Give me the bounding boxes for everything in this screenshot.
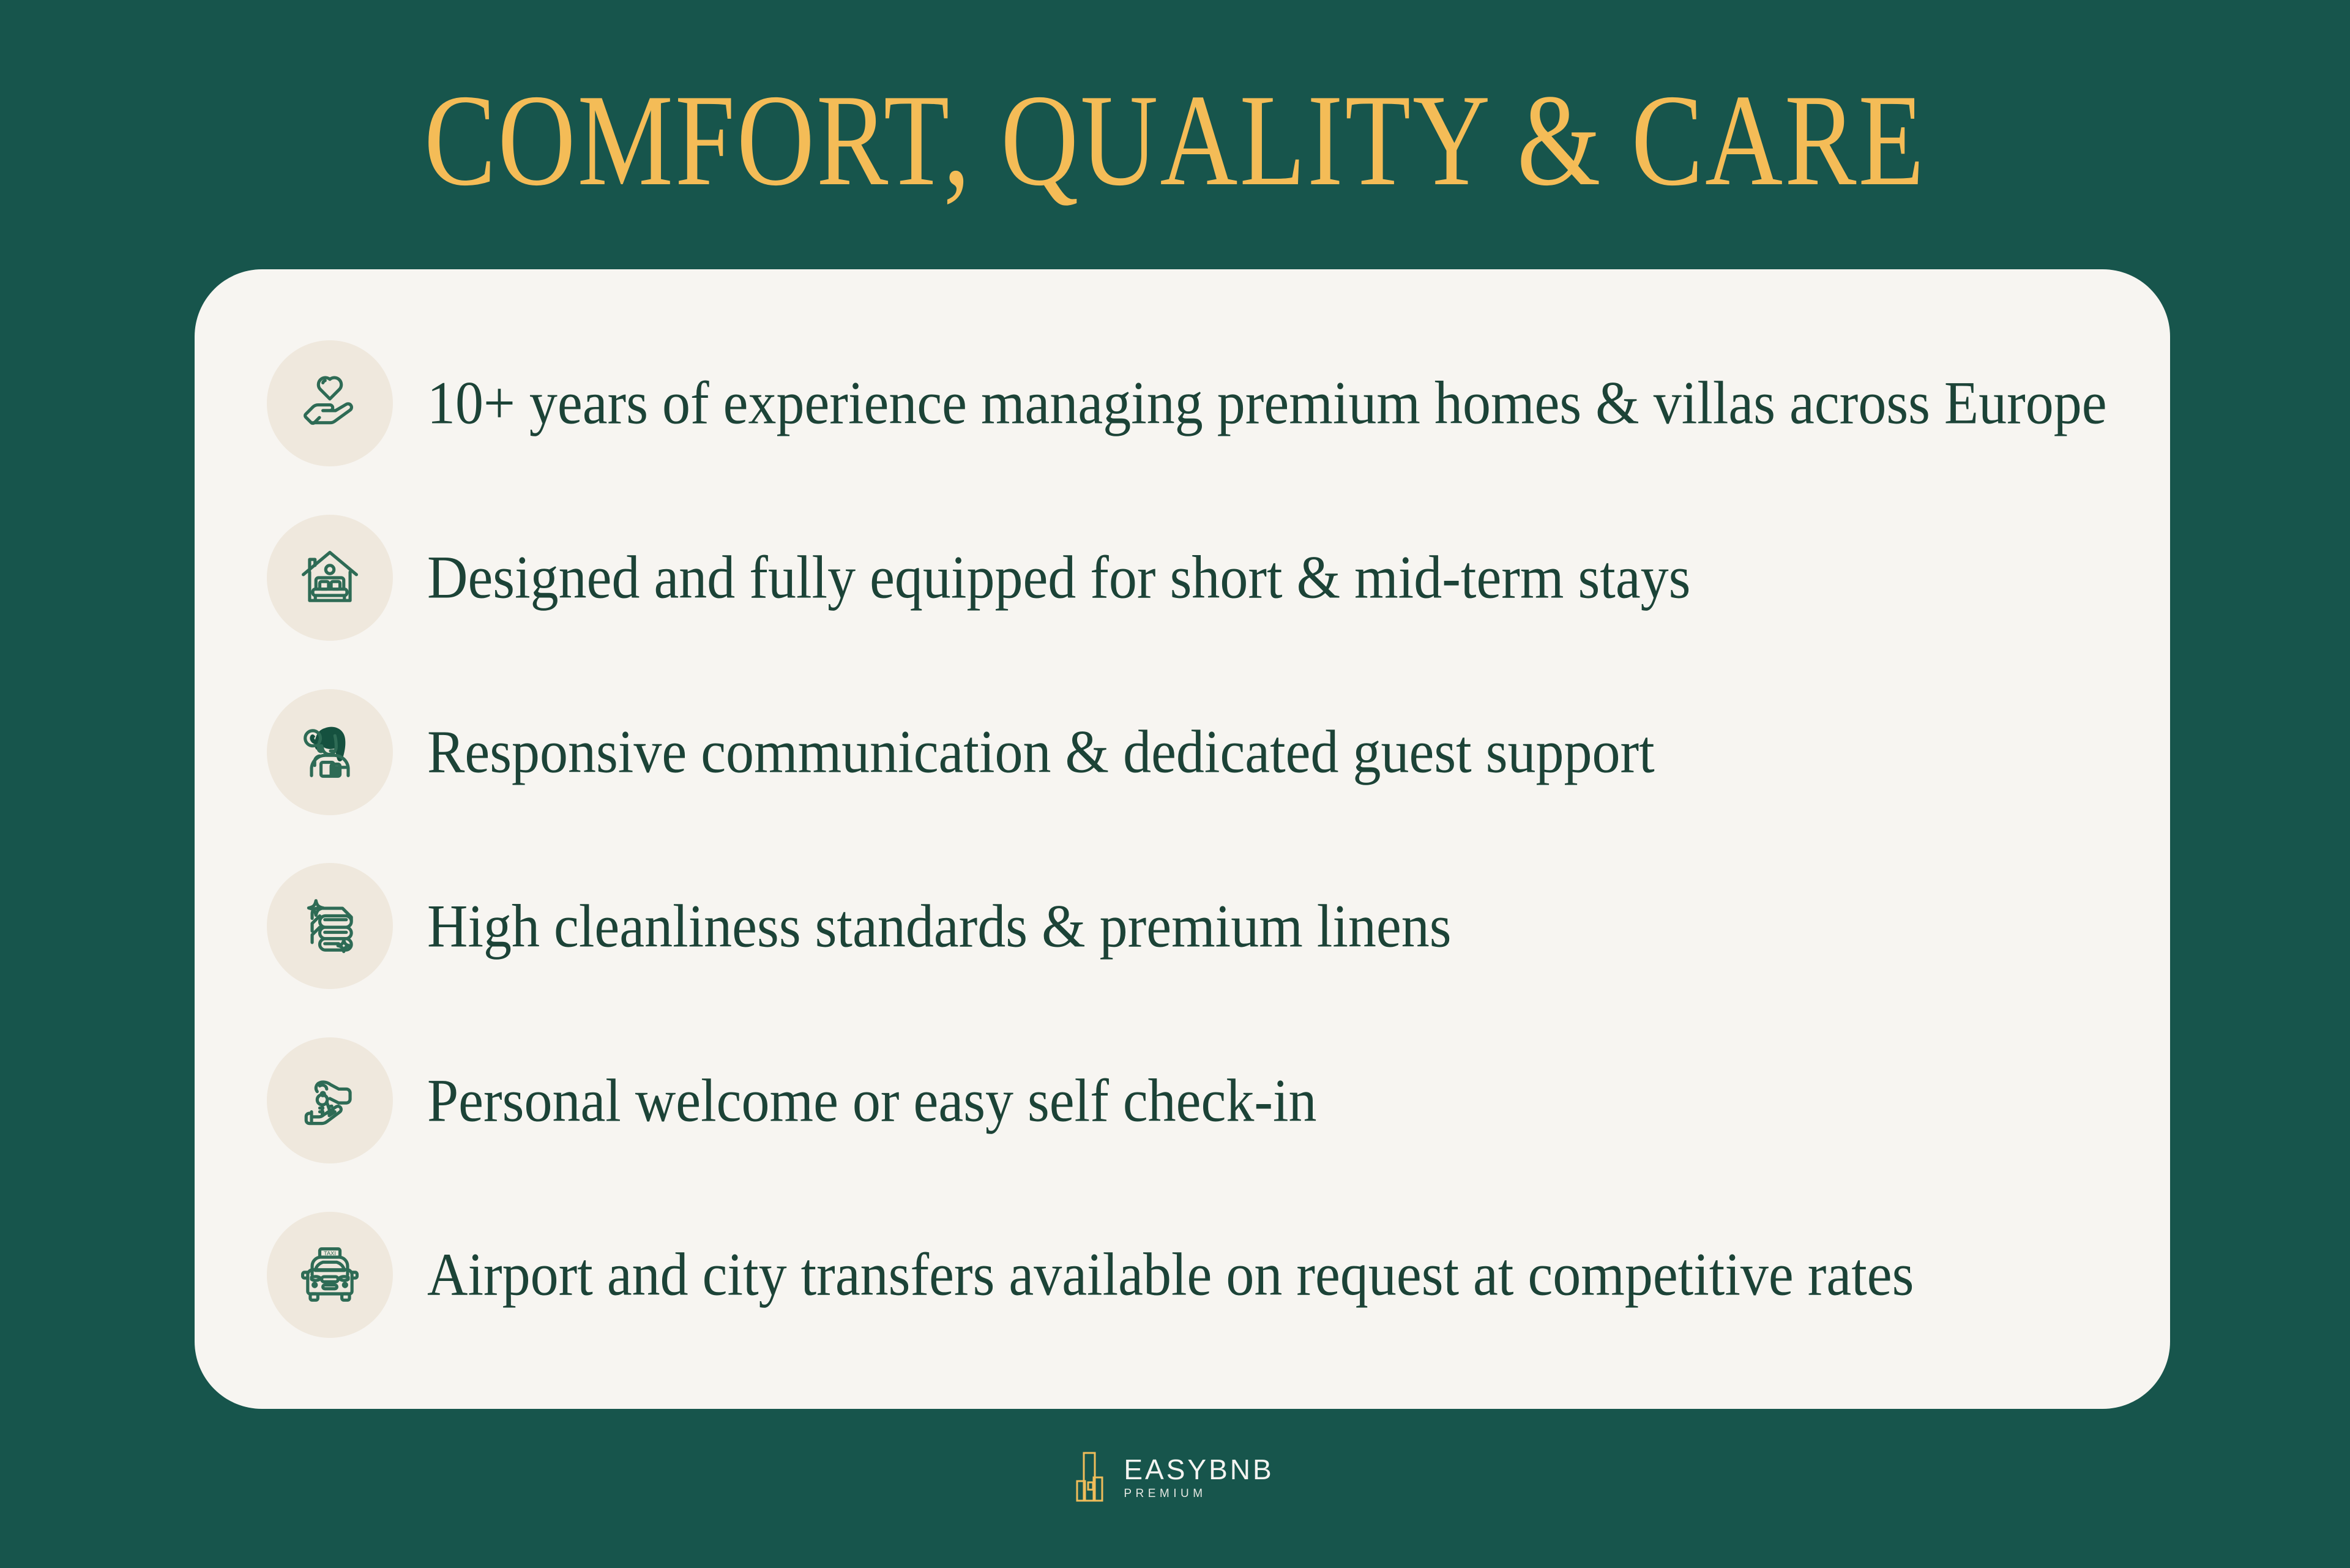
feature-text: High cleanliness standards & premium lin… — [427, 893, 1452, 960]
feature-text: Designed and fully equipped for short & … — [427, 544, 1690, 611]
feature-row: TAXI Airport and city transfers ava — [195, 1198, 2170, 1351]
logo-subtitle: PREMIUM — [1124, 1488, 1274, 1499]
person-on-phone-support-icon — [267, 689, 393, 815]
feature-text: Responsive communication & dedicated gue… — [427, 719, 1655, 785]
feature-row: Personal welcome or easy self check-in — [195, 1024, 2170, 1177]
logo-name: EASYBNB — [1124, 1455, 1274, 1484]
logo-wordmark: EASYBNB PREMIUM — [1124, 1455, 1274, 1499]
features-card: 10+ years of experience managing premium… — [195, 269, 2170, 1409]
folded-linens-sparkle-icon — [267, 863, 393, 989]
feature-row: 10+ years of experience managing premium… — [195, 327, 2170, 480]
feature-text: 10+ years of experience managing premium… — [427, 370, 2107, 436]
feature-row: High cleanliness standards & premium lin… — [195, 849, 2170, 1002]
key-handover-icon — [267, 1037, 393, 1163]
taxi-car-icon: TAXI — [267, 1212, 393, 1338]
feature-row: Designed and fully equipped for short & … — [195, 501, 2170, 654]
footer-logo: EASYBNB PREMIUM — [0, 1450, 2350, 1504]
house-with-bed-icon — [267, 515, 393, 641]
feature-text: Airport and city transfers available on … — [427, 1241, 1914, 1308]
poster-root: { "theme": { "background_color": "#17554… — [0, 0, 2350, 1568]
page-title: COMFORT, QUALITY & CARE — [0, 72, 2350, 210]
feature-row: Responsive communication & dedicated gue… — [195, 676, 2170, 829]
buildings-icon — [1076, 1450, 1110, 1504]
svg-text:TAXI: TAXI — [324, 1250, 336, 1256]
feature-text: Personal welcome or easy self check-in — [427, 1067, 1317, 1134]
hand-holding-heart-icon — [267, 340, 393, 466]
feature-list: 10+ years of experience managing premium… — [195, 301, 2170, 1377]
